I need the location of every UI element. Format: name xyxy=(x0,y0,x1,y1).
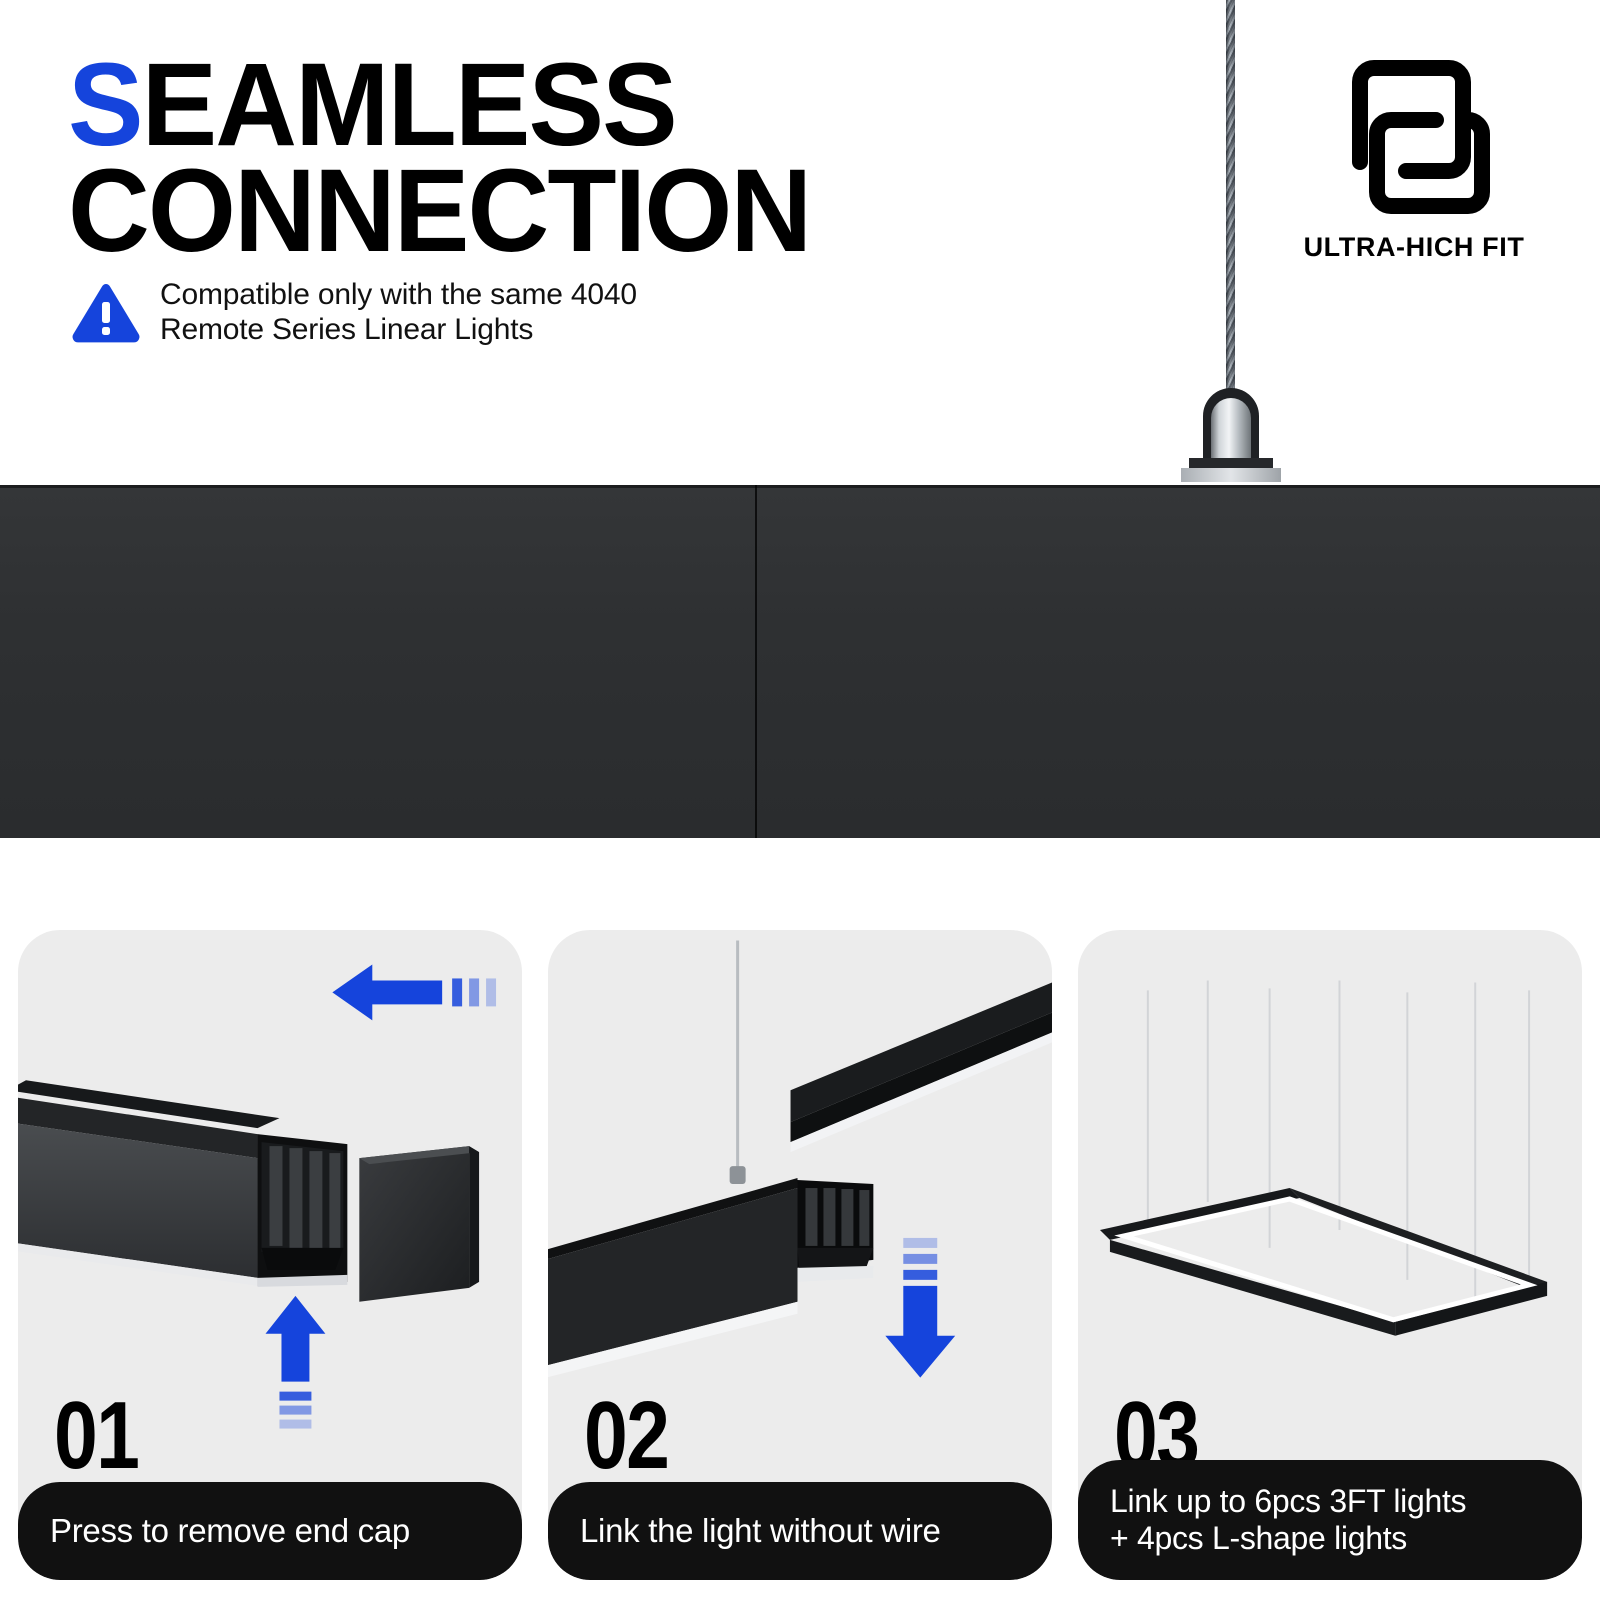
hero-fixture-band xyxy=(0,485,1600,838)
up-arrow-icon xyxy=(266,1296,326,1429)
step-caption-02: Link the light without wire xyxy=(548,1482,1052,1580)
seamless-joint-seam xyxy=(755,485,757,838)
step-caption-03: Link up to 6pcs 3FT lights + 4pcs L-shap… xyxy=(1078,1460,1582,1580)
down-arrow-icon xyxy=(885,1238,955,1378)
suspension-cable-icon xyxy=(1226,0,1235,390)
step-card-01[interactable]: Press 01 Press to remove end cap xyxy=(18,930,522,1580)
left-arrow-icon xyxy=(332,964,496,1020)
title-line2: CONNECTION xyxy=(68,158,1028,264)
warning-triangle-icon xyxy=(70,282,142,344)
badge-label: ULTRA-HICH FIT xyxy=(1264,232,1564,263)
step-caption-01: Press to remove end cap xyxy=(18,1482,522,1580)
compatibility-note: Compatible only with the same 4040 Remot… xyxy=(70,278,637,348)
ultra-high-fit-badge: ULTRA-HICH FIT xyxy=(1264,52,1564,263)
step-card-03[interactable]: 03 Link up to 6pcs 3FT lights + 4pcs L-s… xyxy=(1078,930,1582,1580)
step-card-02[interactable]: 02 Link the light without wire xyxy=(548,930,1052,1580)
header-section: SEAMLESS CONNECTION Compatible only with… xyxy=(0,0,1600,485)
interlocking-squares-icon xyxy=(1314,52,1514,222)
page-title: SEAMLESS CONNECTION xyxy=(68,52,1028,264)
step-number-01: 01 xyxy=(54,1388,138,1484)
step-number-02: 02 xyxy=(584,1388,668,1484)
cable-gripper-mount-icon xyxy=(1163,380,1299,485)
steps-row: Press 01 Press to remove end cap xyxy=(18,930,1582,1580)
compatibility-text: Compatible only with the same 4040 Remot… xyxy=(160,278,637,348)
